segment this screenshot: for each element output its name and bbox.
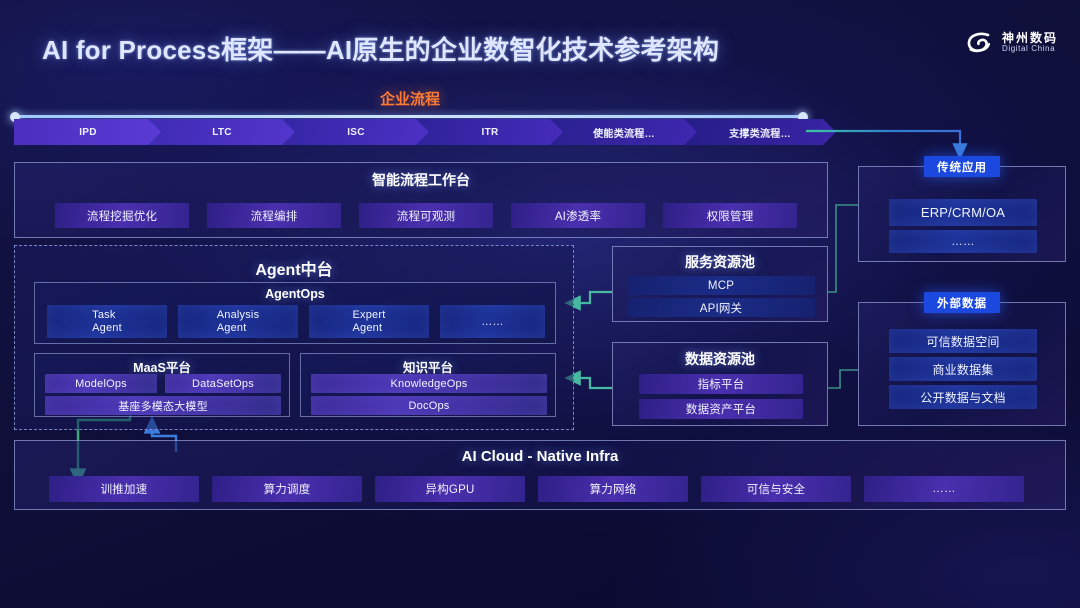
external-data-item-1[interactable]: 商业数据集: [889, 357, 1037, 381]
knowledge-docops[interactable]: DocOps: [311, 396, 547, 415]
maas-base-model[interactable]: 基座多模态大模型: [45, 396, 281, 415]
workbench-panel: 智能流程工作台 流程挖掘优化 流程编排 流程可观测 AI渗透率 权限管理: [14, 162, 828, 238]
flow-stage-ipd[interactable]: IPD: [14, 119, 162, 145]
infra-item-1[interactable]: 算力调度: [212, 476, 362, 502]
process-flow-label: 企业流程: [0, 88, 820, 109]
infra-item-0[interactable]: 训推加速: [49, 476, 199, 502]
infra-panel: AI Cloud - Native Infra 训推加速 算力调度 异构GPU …: [14, 440, 1066, 510]
legacy-apps-erp-crm-oa[interactable]: ERP/CRM/OA: [889, 199, 1037, 226]
service-pool-mcp[interactable]: MCP: [627, 276, 815, 295]
agentops-item-analysis-agent[interactable]: Analysis Agent: [178, 305, 298, 338]
infra-item-4[interactable]: 可信与安全: [701, 476, 851, 502]
flow-stage-enabling[interactable]: 使能类流程…: [550, 119, 698, 145]
digital-china-swirl-icon: [964, 28, 994, 58]
data-pool-metric-platform[interactable]: 指标平台: [639, 374, 803, 394]
data-pool-panel: 数据资源池 指标平台 数据资产平台: [612, 342, 828, 426]
slide-canvas: AI for Process框架——AI原生的企业数智化技术参考架构 神州数码 …: [0, 0, 1080, 608]
data-pool-asset-platform[interactable]: 数据资产平台: [639, 399, 803, 419]
agentops-item-more[interactable]: ……: [440, 305, 545, 338]
knowledge-knowledgeops[interactable]: KnowledgeOps: [311, 374, 547, 393]
workbench-item-0[interactable]: 流程挖掘优化: [55, 203, 189, 228]
logo-text-cn: 神州数码: [1002, 32, 1058, 45]
agentops-item-task-agent[interactable]: Task Agent: [47, 305, 167, 338]
maas-modelops[interactable]: ModelOps: [45, 374, 157, 393]
agentops-title: AgentOps: [35, 287, 555, 301]
process-flow-strip: IPD LTC ISC ITR 使能类流程… 支撑类流程…: [14, 119, 804, 145]
workbench-item-3[interactable]: AI渗透率: [511, 203, 645, 228]
external-data-panel: 可信数据空间 商业数据集 公开数据与文档: [858, 302, 1066, 426]
legacy-apps-panel: ERP/CRM/OA ……: [858, 166, 1066, 262]
service-pool-title: 服务资源池: [613, 252, 827, 272]
process-flow-rail: [14, 115, 804, 118]
service-pool-panel: 服务资源池 MCP API网关: [612, 246, 828, 322]
external-data-item-2[interactable]: 公开数据与文档: [889, 385, 1037, 409]
workbench-title: 智能流程工作台: [15, 170, 827, 190]
workbench-item-2[interactable]: 流程可观测: [359, 203, 493, 228]
infra-item-2[interactable]: 异构GPU: [375, 476, 525, 502]
infra-title: AI Cloud - Native Infra: [15, 448, 1065, 465]
agentops-panel: AgentOps Task Agent Analysis Agent Exper…: [34, 282, 556, 344]
external-data-badge: 外部数据: [924, 292, 1000, 313]
workbench-item-4[interactable]: 权限管理: [663, 203, 797, 228]
service-pool-api-gateway[interactable]: API网关: [627, 298, 815, 317]
infra-item-5[interactable]: ……: [864, 476, 1024, 502]
page-title: AI for Process框架——AI原生的企业数智化技术参考架构: [42, 30, 719, 67]
flow-stage-supporting[interactable]: 支撑类流程…: [684, 119, 836, 145]
maas-datasetops[interactable]: DataSetOps: [165, 374, 281, 393]
workbench-item-1[interactable]: 流程编排: [207, 203, 341, 228]
legacy-apps-badge: 传统应用: [924, 156, 1000, 177]
brand-logo: 神州数码 Digital China: [964, 28, 1058, 58]
data-pool-title: 数据资源池: [613, 349, 827, 369]
external-data-item-0[interactable]: 可信数据空间: [889, 329, 1037, 353]
agent-hub-panel: Agent中台 AgentOps Task Agent Analysis Age…: [14, 245, 574, 430]
legacy-apps-more[interactable]: ……: [889, 230, 1037, 253]
maas-panel: MaaS平台 ModelOps DataSetOps 基座多模态大模型: [34, 353, 290, 417]
flow-stage-isc[interactable]: ISC: [282, 119, 430, 145]
agentops-item-expert-agent[interactable]: Expert Agent: [309, 305, 429, 338]
knowledge-panel: 知识平台 KnowledgeOps DocOps: [300, 353, 556, 417]
flow-stage-itr[interactable]: ITR: [416, 119, 564, 145]
flow-stage-ltc[interactable]: LTC: [148, 119, 296, 145]
logo-text-en: Digital China: [1002, 44, 1058, 54]
agent-hub-title: Agent中台: [15, 256, 573, 280]
infra-item-3[interactable]: 算力网络: [538, 476, 688, 502]
